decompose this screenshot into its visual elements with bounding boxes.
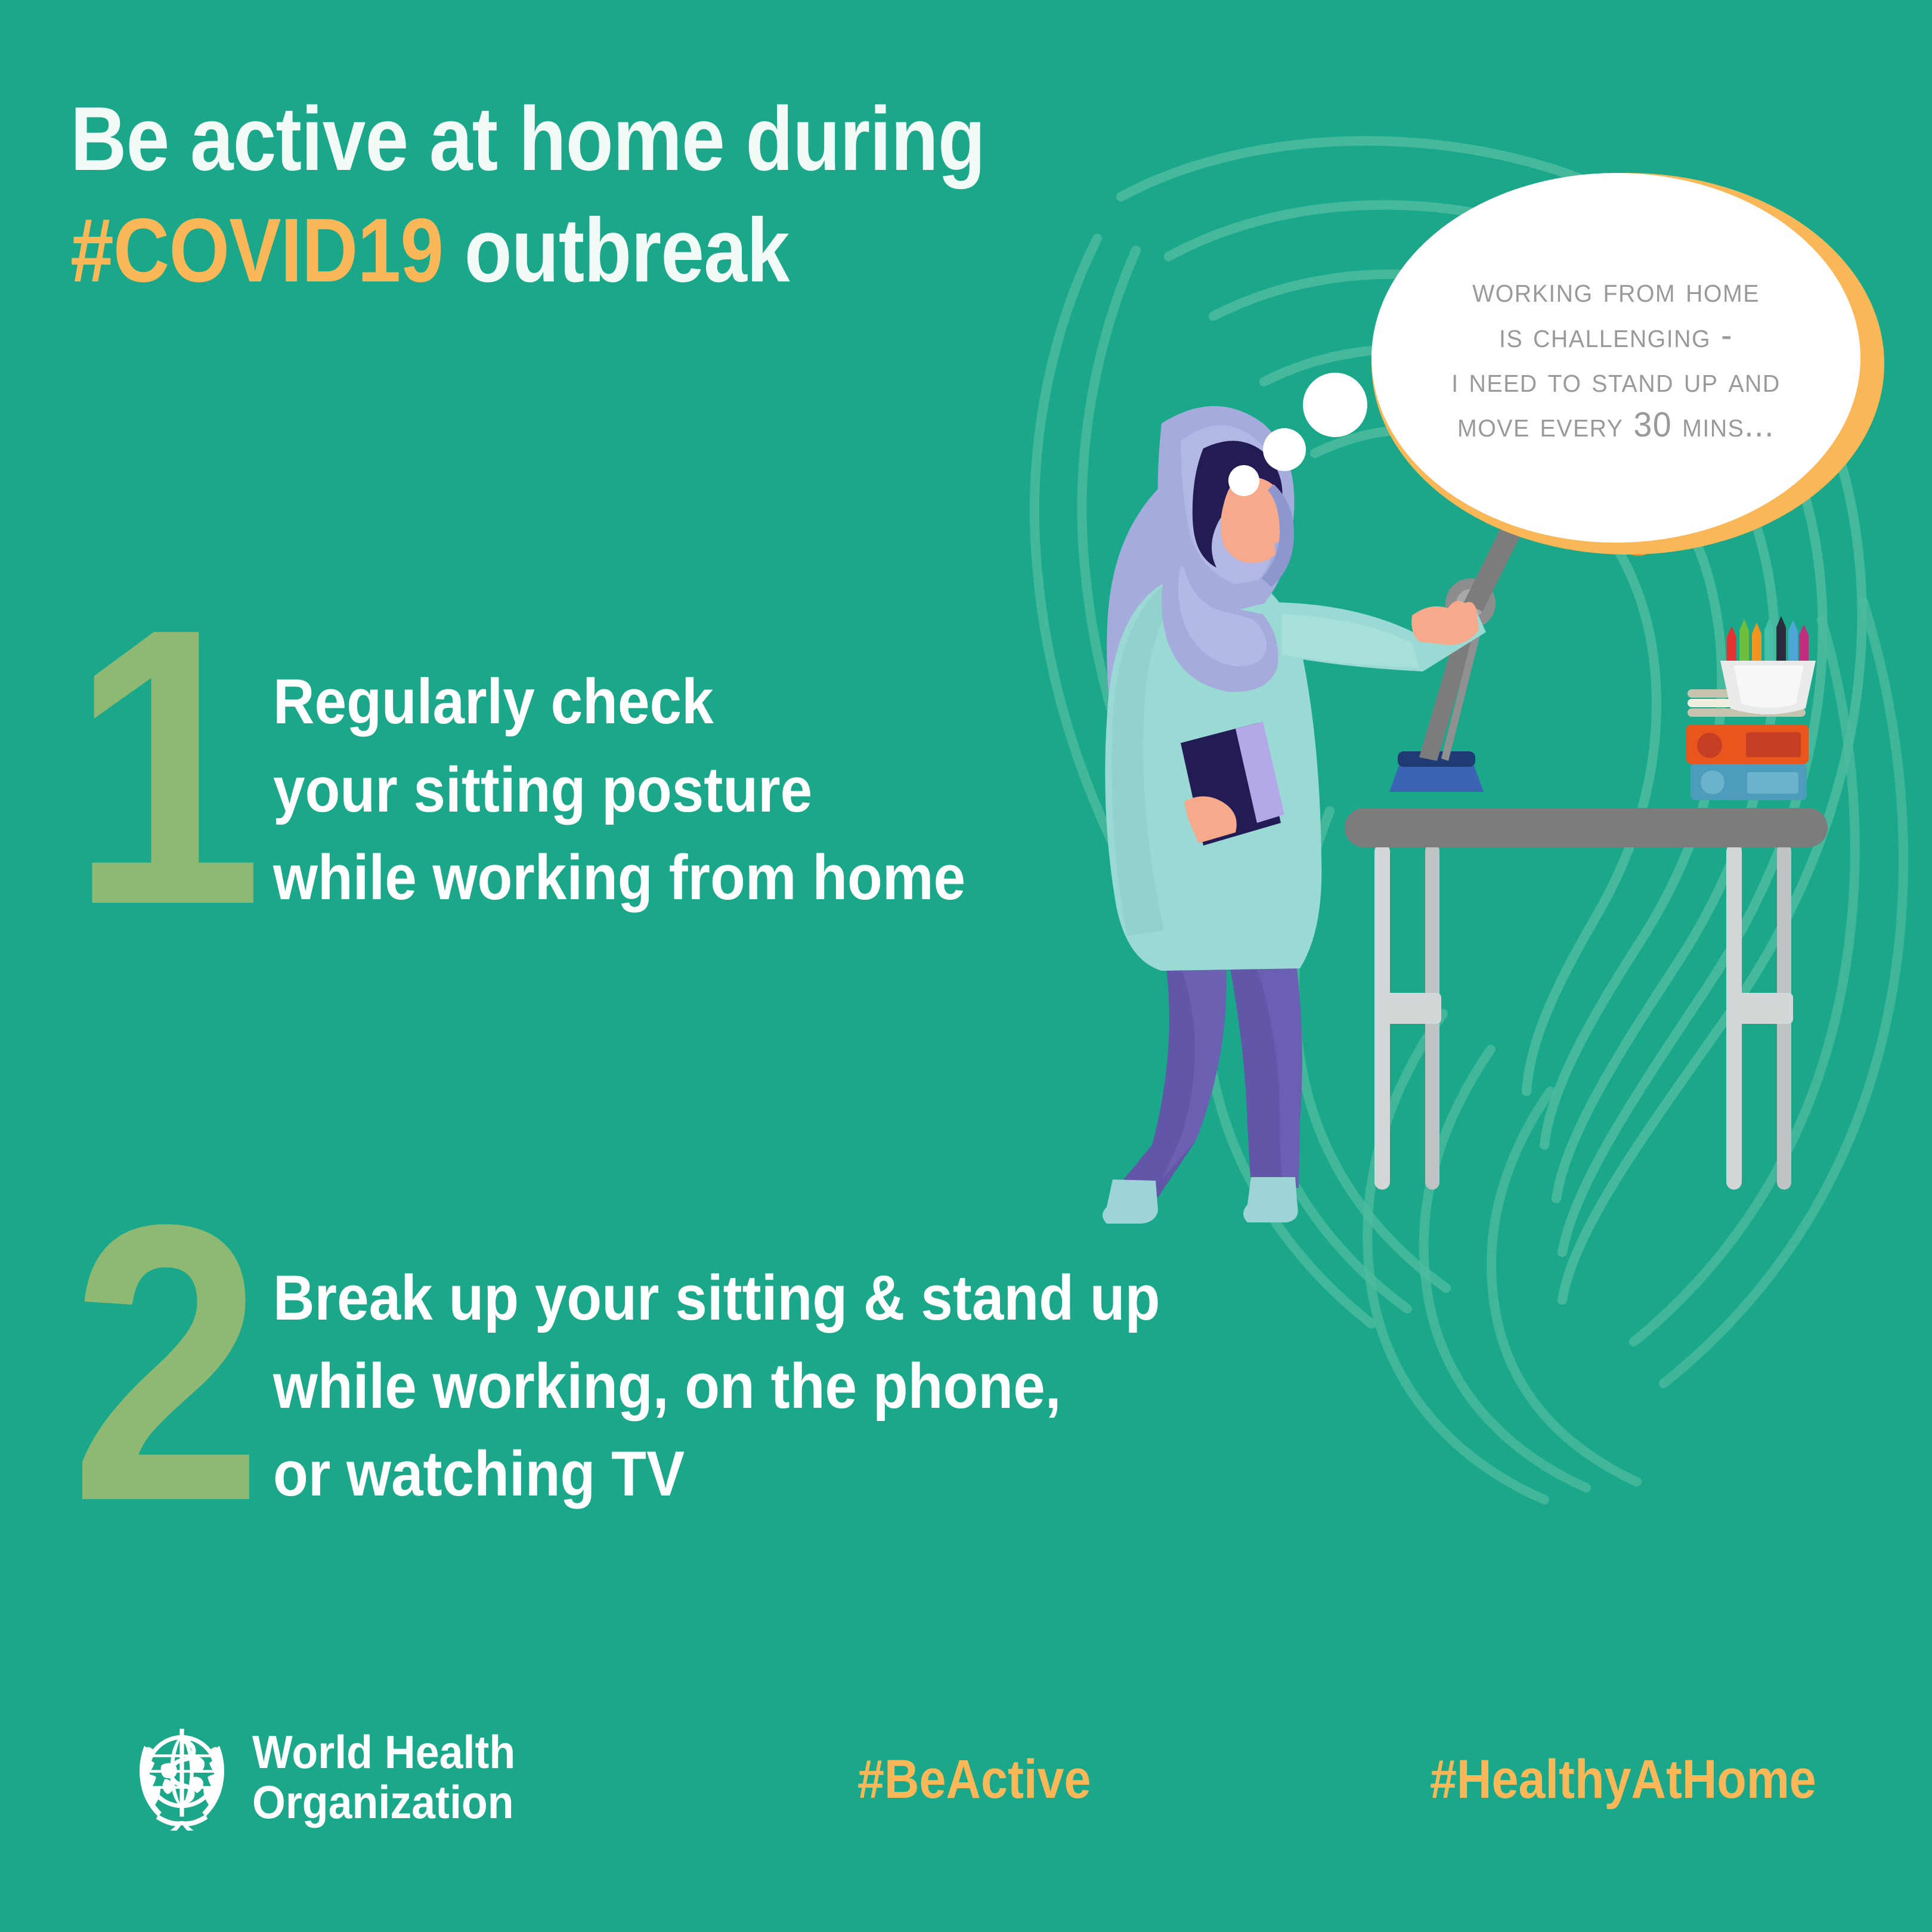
foot-right	[1243, 1177, 1298, 1222]
tip-1-line-1: Regularly check	[273, 658, 965, 746]
tip-number-2: 2	[70, 1213, 243, 1513]
tip-text-2: Break up your sitting & stand up while w…	[273, 1237, 1259, 1518]
foot-left	[1103, 1179, 1158, 1224]
page-title: Be active at home during #COVID19 outbre…	[70, 83, 1323, 306]
tip-item-1: 1 Regularly check your sitting posture w…	[70, 641, 1042, 922]
bubble-line-1: Working from home	[1427, 268, 1805, 312]
who-name-line-1: World Health	[252, 1727, 515, 1777]
tip-2-line-1: Break up your sitting & stand up	[273, 1254, 1160, 1342]
poster-canvas: Be active at home during #COVID19 outbre…	[0, 0, 1932, 1932]
who-logo: World Health Organization	[128, 1723, 538, 1831]
hashtag-healthyathome[interactable]: #HealthyAtHome	[1430, 1748, 1816, 1811]
tip-2-line-3: or watching TV	[273, 1430, 1160, 1518]
headline-line-1: Be active at home during	[70, 83, 1147, 195]
tip-item-2: 2 Break up your sitting & stand up while…	[70, 1237, 1259, 1518]
who-emblem-icon	[128, 1723, 236, 1831]
pencil-cup	[1720, 616, 1816, 714]
footer: World Health Organization #BeActive #Hea…	[0, 1676, 1932, 1932]
headline-line-2: #COVID19 outbreak	[70, 195, 1147, 306]
bubble-line-4: move every 30 mins...	[1427, 402, 1805, 447]
tip-1-line-2: your sitting posture	[273, 746, 965, 834]
hand-right	[1411, 601, 1479, 646]
bubble-line-2: is challenging -	[1427, 313, 1805, 358]
who-name-line-2: Organization	[252, 1777, 515, 1827]
tip-text-1: Regularly check your sitting posture whi…	[273, 641, 1042, 922]
bubble-line-3: I need to stand up and	[1427, 358, 1805, 402]
tip-2-line-2: while working, on the phone,	[273, 1342, 1160, 1431]
tip-1-line-3: while working from home	[273, 834, 965, 922]
speech-bubble-body: Working from home is challenging - I nee…	[1371, 173, 1860, 543]
speech-bubble-text: Working from home is challenging - I nee…	[1427, 268, 1805, 448]
thought-dot-small	[1228, 465, 1259, 496]
hashtag-beactive[interactable]: #BeActive	[857, 1748, 1091, 1811]
tip-number-1: 1	[70, 617, 243, 917]
who-name-text: World Health Organization	[252, 1727, 515, 1827]
speech-bubble: Working from home is challenging - I nee…	[1371, 173, 1884, 555]
headline-outbreak-word: outbreak	[443, 200, 789, 301]
thought-dot-medium	[1263, 428, 1306, 471]
colored-pencils	[1727, 616, 1809, 665]
desk	[1345, 808, 1828, 1190]
thought-dot-large	[1303, 373, 1367, 437]
covid-hashtag: #COVID19	[70, 200, 443, 301]
